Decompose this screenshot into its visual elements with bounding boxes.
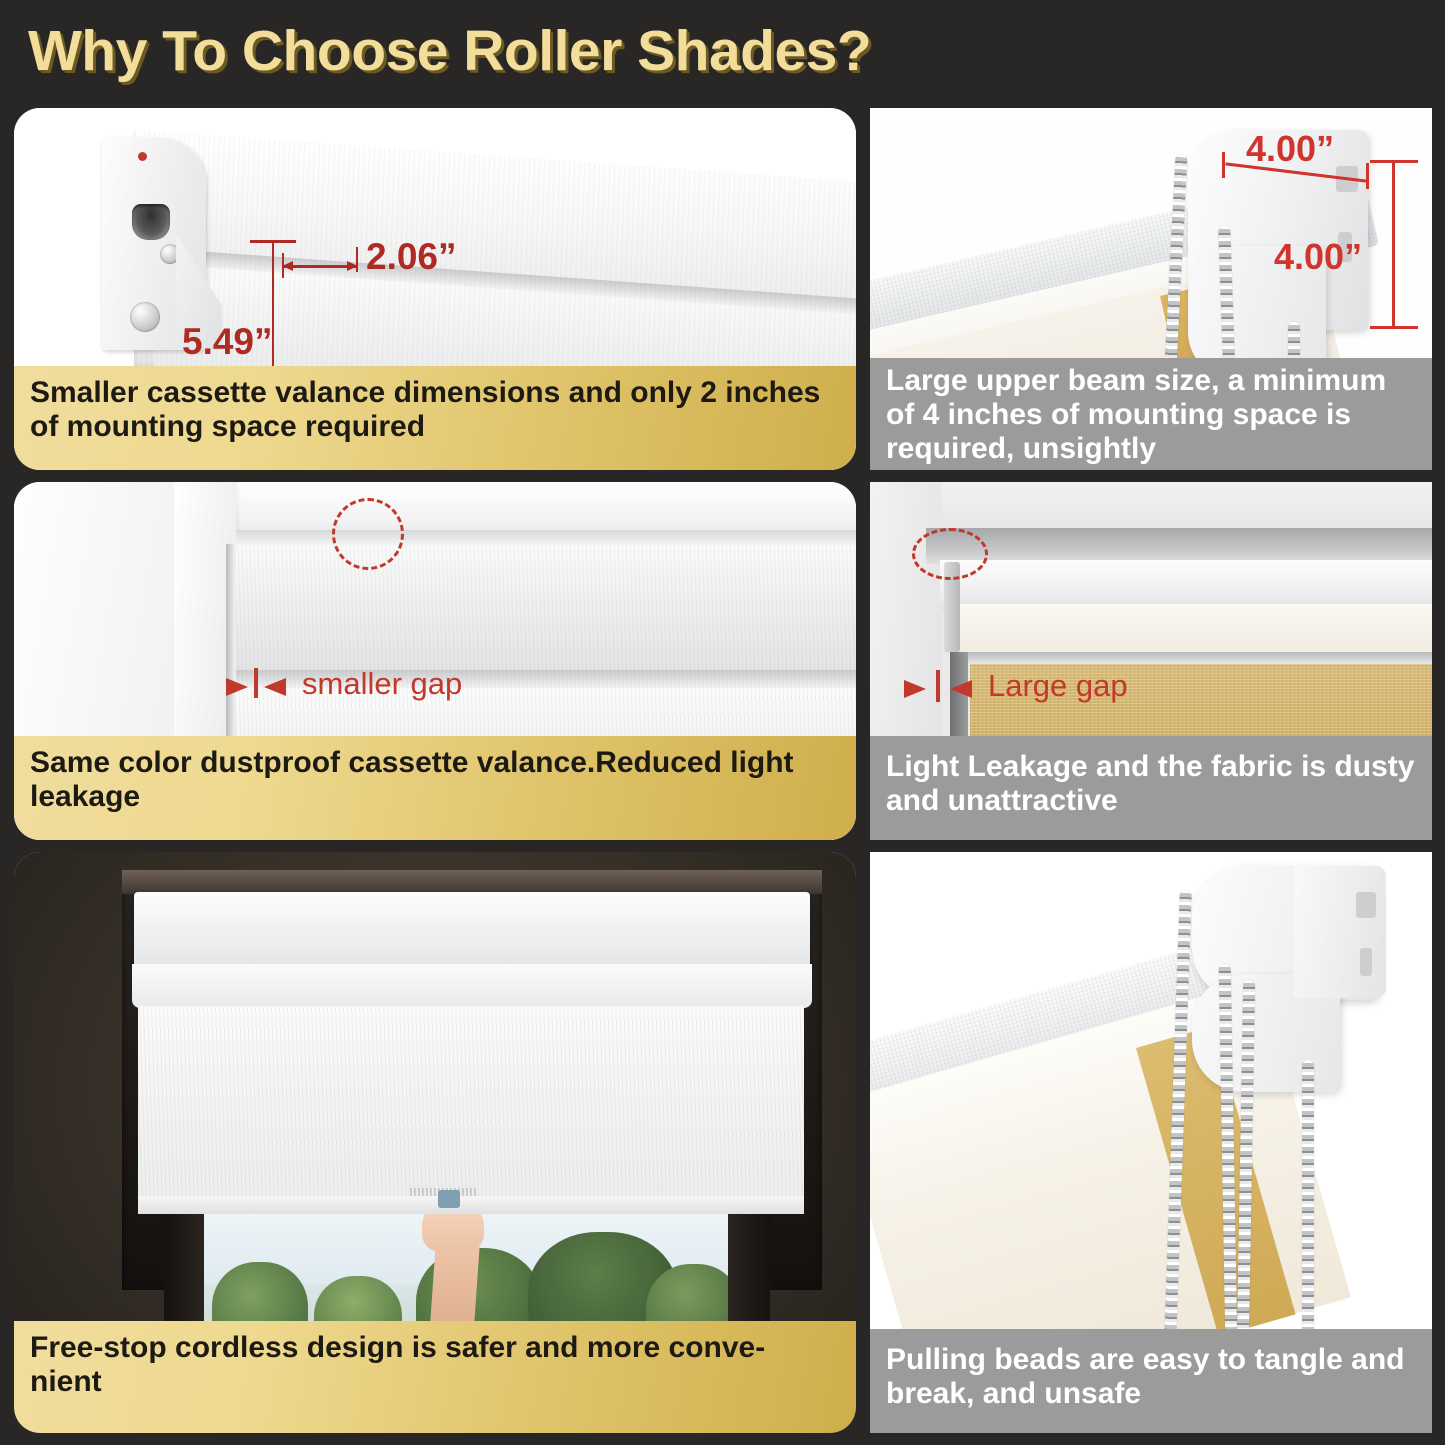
cassette-valance <box>134 892 810 968</box>
panel-caption-large-upper-beam: Large upper beam size, a minimum of 4 in… <box>870 358 1432 470</box>
panel-caption-cassette-valance: Smaller cassette valance dimensions and … <box>14 366 856 470</box>
bracket-slot <box>132 204 170 240</box>
upper-beam-shadow <box>926 528 1432 564</box>
panel-pulling-beads: Pulling beads are easy to tangle and bre… <box>870 852 1432 1433</box>
comparison-grid: 2.06” 5.49” Smaller cassette valance dim… <box>14 108 1432 1433</box>
beam-height-cap-bottom <box>1370 326 1418 329</box>
panel-caption-light-leakage: Light Leakage and the fabric is dusty an… <box>870 736 1432 840</box>
gap-arrow-left <box>904 680 926 698</box>
gap-tick-mark <box>936 670 940 702</box>
gap-arrow-right <box>950 680 972 698</box>
panel-dustproof-valance: smaller gap Same color dustproof cassett… <box>14 482 856 840</box>
panel-caption-dustproof-valance: Same color dustproof cassette valance.Re… <box>14 736 856 840</box>
gap-highlight-circle <box>332 498 404 570</box>
bracket-notch-2 <box>1360 948 1372 976</box>
page-title: Why To Choose Roller Shades? <box>28 18 871 84</box>
pull-tab <box>438 1190 460 1208</box>
panel-cordless-design: Free-stop cordless design is safer and m… <box>14 852 856 1433</box>
gap-arrow-left <box>226 678 248 696</box>
height-dimension-label: 5.49” <box>182 321 273 363</box>
large-gap-label: Large gap <box>988 668 1128 704</box>
beam-width-tick-right <box>1366 163 1369 189</box>
hem-bar <box>138 1196 804 1214</box>
panel-caption-pulling-beads: Pulling beads are easy to tangle and bre… <box>870 1329 1432 1433</box>
valance-head-rail <box>236 530 856 546</box>
window-lintel <box>122 870 822 894</box>
gap-tick-mark <box>254 668 258 698</box>
panel-light-leakage: Large gap Light Leakage and the fabric i… <box>870 482 1432 840</box>
bead-chain-back <box>1302 1060 1314 1342</box>
beam-height-label: 4.00” <box>1274 236 1362 278</box>
beam-rail <box>952 652 1432 664</box>
ceiling-area <box>870 482 1432 528</box>
panel-caption-cordless-design: Free-stop cordless design is safer and m… <box>14 1321 856 1433</box>
width-arrow-bar <box>282 265 358 268</box>
gap-arrow-right <box>264 678 286 696</box>
panel-cassette-valance: 2.06” 5.49” Smaller cassette valance dim… <box>14 108 856 470</box>
bracket-notch-1 <box>1356 892 1376 918</box>
cassette-lip <box>132 964 812 1008</box>
roller-shade-texture <box>138 1006 804 1208</box>
width-dimension-label: 2.06” <box>366 236 457 278</box>
bracket-screw-lower <box>130 302 160 332</box>
gap-highlight-circle <box>912 528 988 580</box>
infographic-page: Why To Choose Roller Shades? <box>0 0 1445 1445</box>
smaller-gap-label: smaller gap <box>302 666 462 702</box>
panel-large-upper-beam: 4.00” 4.00” Large upper beam size, a min… <box>870 108 1432 470</box>
beam-lower-face <box>952 604 1432 654</box>
bracket-wall-plate <box>1294 866 1386 998</box>
bracket-marker-dot <box>138 152 147 161</box>
end-bracket <box>102 138 206 350</box>
beam-width-label: 4.00” <box>1246 128 1334 170</box>
beam-height-line <box>1392 160 1395 328</box>
bracket-screw-upper <box>160 244 180 264</box>
